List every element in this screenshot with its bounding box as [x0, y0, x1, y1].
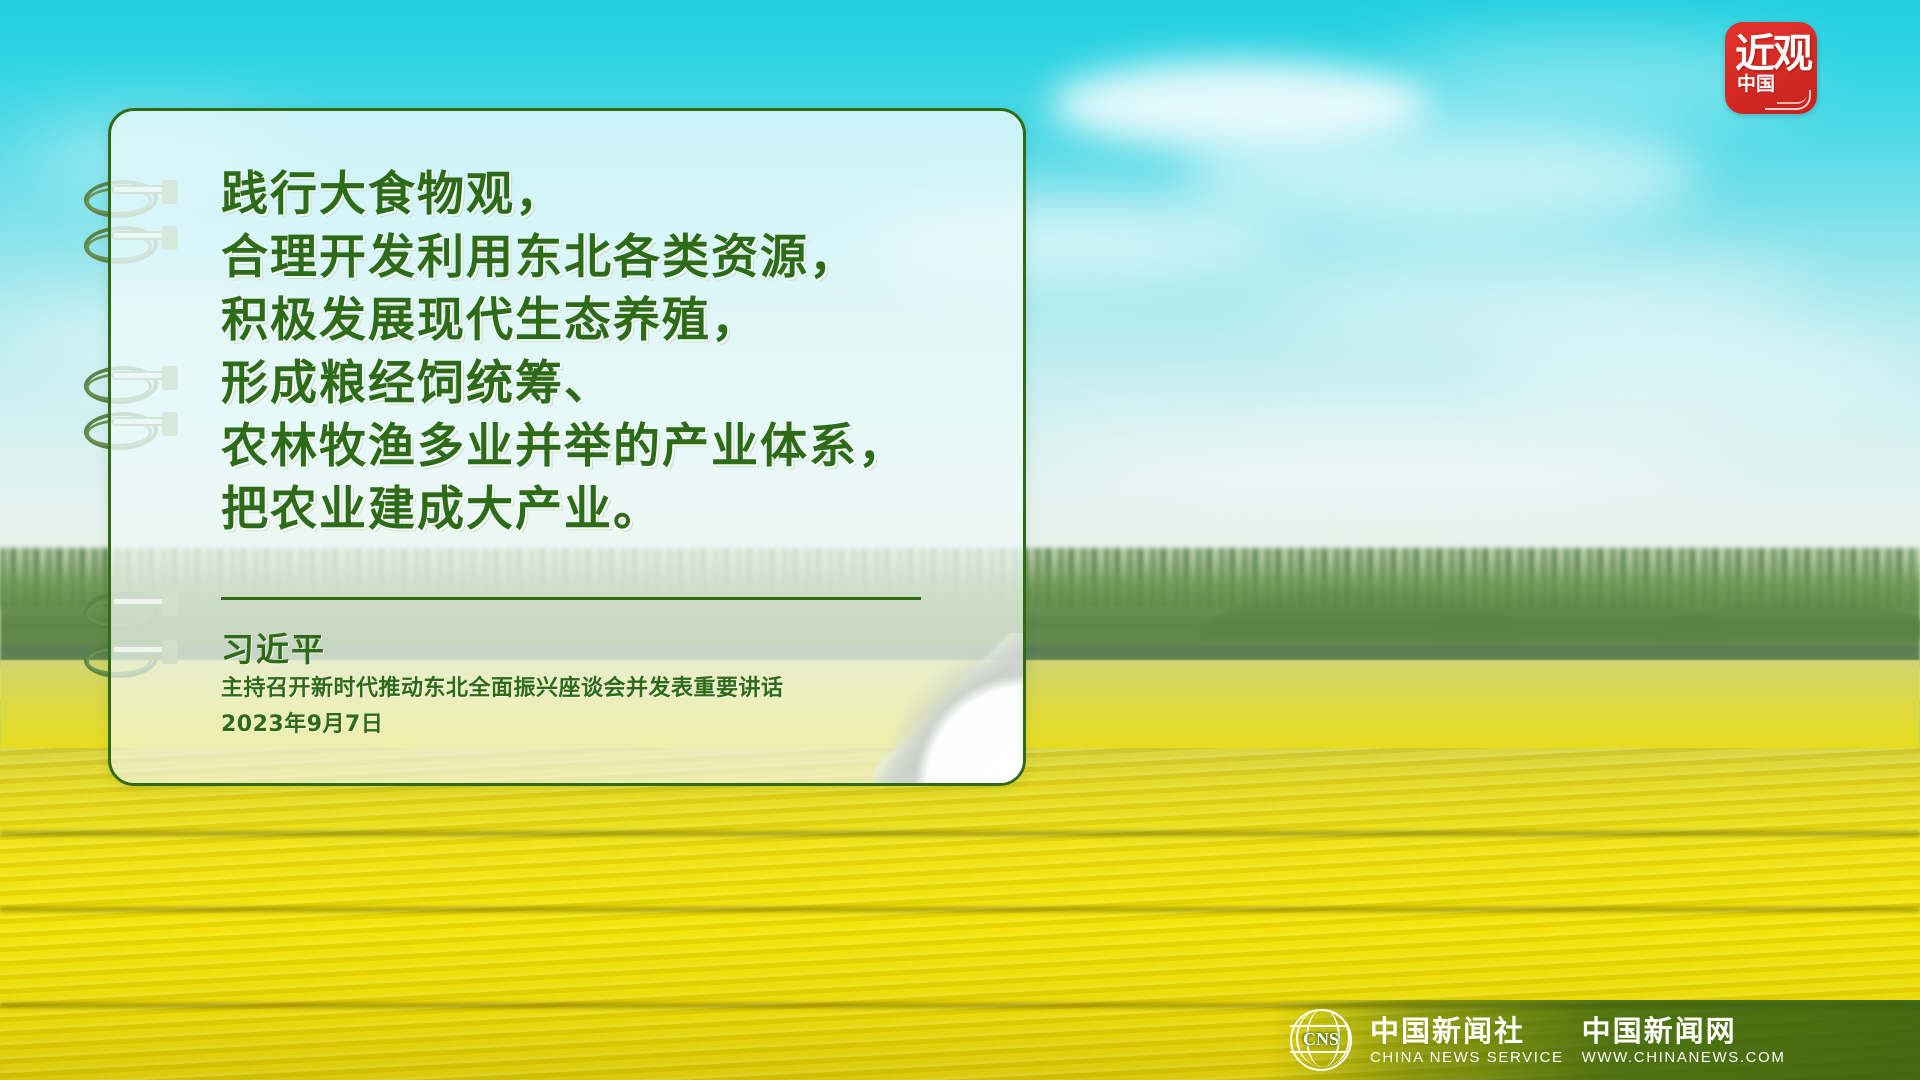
site-url: WWW.CHINANEWS.COM — [1582, 1048, 1786, 1067]
poster-canvas: 近观 中国 践行大食物观， 合理开发利用东北各类资源， 积极发展现代生态养殖， … — [0, 0, 1920, 1080]
cns-globe-icon: CNS — [1290, 1009, 1352, 1071]
quote-date: 2023年9月7日 — [221, 707, 784, 743]
footer-watermark: CNS 中国新闻社 CHINA NEWS SERVICE 中国新闻网 WWW.C… — [1268, 1000, 1920, 1080]
agency-name-cn: 中国新闻社 — [1370, 1014, 1564, 1048]
cloud — [1180, 120, 1700, 230]
quote-block: 践行大食物观， 合理开发利用东北各类资源， 积极发展现代生态养殖， 形成粮经饲统… — [221, 163, 991, 541]
page-curl — [873, 633, 1025, 785]
divider — [221, 597, 921, 600]
cns-globe-label: CNS — [1292, 1029, 1350, 1050]
quote-line: 农林牧渔多业并举的产业体系， — [221, 415, 991, 478]
quote-line: 积极发展现代生态养殖， — [221, 289, 991, 352]
quote-line: 践行大食物观， — [221, 163, 991, 226]
site-block: 中国新闻网 WWW.CHINANEWS.COM — [1582, 1014, 1786, 1067]
quote-author: 习近平 — [221, 623, 326, 671]
logo-line-1: 近观 — [1735, 34, 1811, 74]
quote-line: 把农业建成大产业。 — [221, 478, 991, 541]
logo-swoosh-secondary-icon — [1777, 92, 1807, 104]
quote-meta: 主持召开新时代推动东北全面振兴座谈会并发表重要讲话 2023年9月7日 — [221, 671, 784, 743]
quote-occasion: 主持召开新时代推动东北全面振兴座谈会并发表重要讲话 — [221, 671, 784, 707]
furrow — [0, 830, 1920, 837]
quote-card: 践行大食物观， 合理开发利用东北各类资源， 积极发展现代生态养殖， 形成粮经饲统… — [108, 108, 1026, 786]
jinguan-zhongguo-logo[interactable]: 近观 中国 — [1725, 22, 1817, 114]
quote-line: 合理开发利用东北各类资源， — [221, 226, 991, 289]
furrow — [0, 906, 1920, 913]
agency-name-en: CHINA NEWS SERVICE — [1370, 1048, 1564, 1067]
cloud — [1480, 330, 1920, 410]
agency-block: 中国新闻社 CHINA NEWS SERVICE — [1370, 1014, 1564, 1067]
site-name-cn: 中国新闻网 — [1582, 1014, 1786, 1048]
cloud — [1040, 420, 1740, 500]
quote-line: 形成粮经饲统筹、 — [221, 352, 991, 415]
cloud — [1250, 250, 1810, 340]
